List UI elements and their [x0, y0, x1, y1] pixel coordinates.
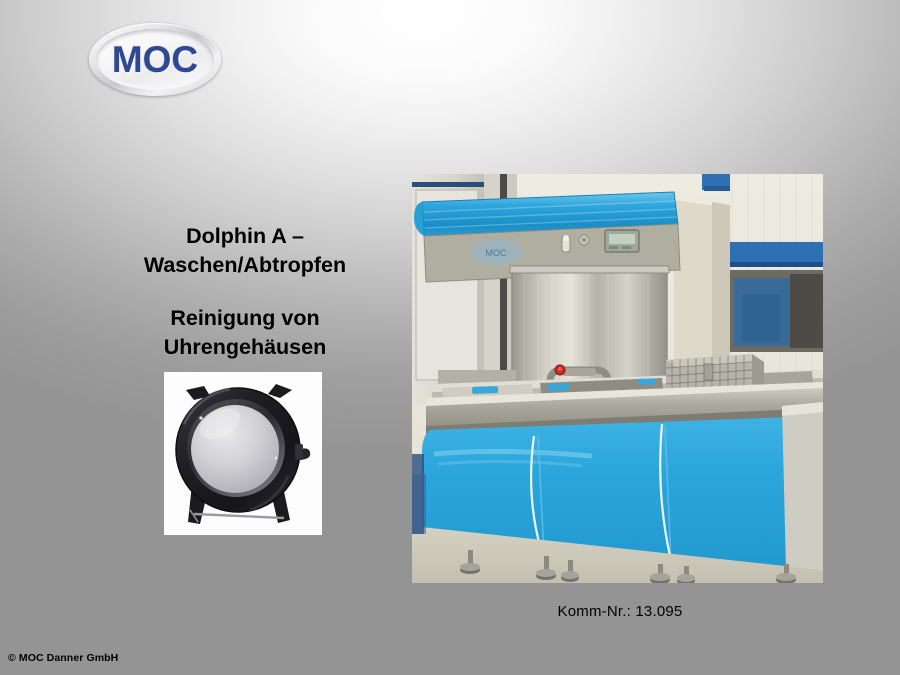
watch-case-photo: [164, 372, 322, 535]
title-spacer: [78, 280, 412, 304]
slide-title: Dolphin A – Waschen/Abtropfen Reinigung …: [78, 222, 412, 362]
logo-oval-outer: MOC: [89, 23, 221, 96]
dolphin-a-machine-illustration: MOC: [412, 174, 823, 583]
copyright-notice: © MOC Danner GmbH: [8, 652, 118, 664]
title-line-2: Waschen/Abtropfen: [144, 253, 346, 277]
komm-nr-caption: Komm-Nr.: 13.095: [460, 603, 780, 620]
title-line-1: Dolphin A –: [186, 224, 304, 248]
slide-canvas: MOC Dolphin A – Waschen/Abtropfen Reinig…: [0, 0, 900, 675]
moc-logo: MOC: [89, 23, 221, 96]
logo-text: MOC: [112, 41, 198, 78]
title-line-4: Uhrengehäusen: [164, 335, 326, 359]
machine-photo: MOC: [412, 174, 823, 583]
svg-text:MOC: MOC: [486, 248, 507, 258]
watch-case-illustration: [164, 372, 322, 535]
logo-oval-inner: MOC: [96, 29, 214, 90]
title-line-3: Reinigung von: [170, 306, 319, 330]
